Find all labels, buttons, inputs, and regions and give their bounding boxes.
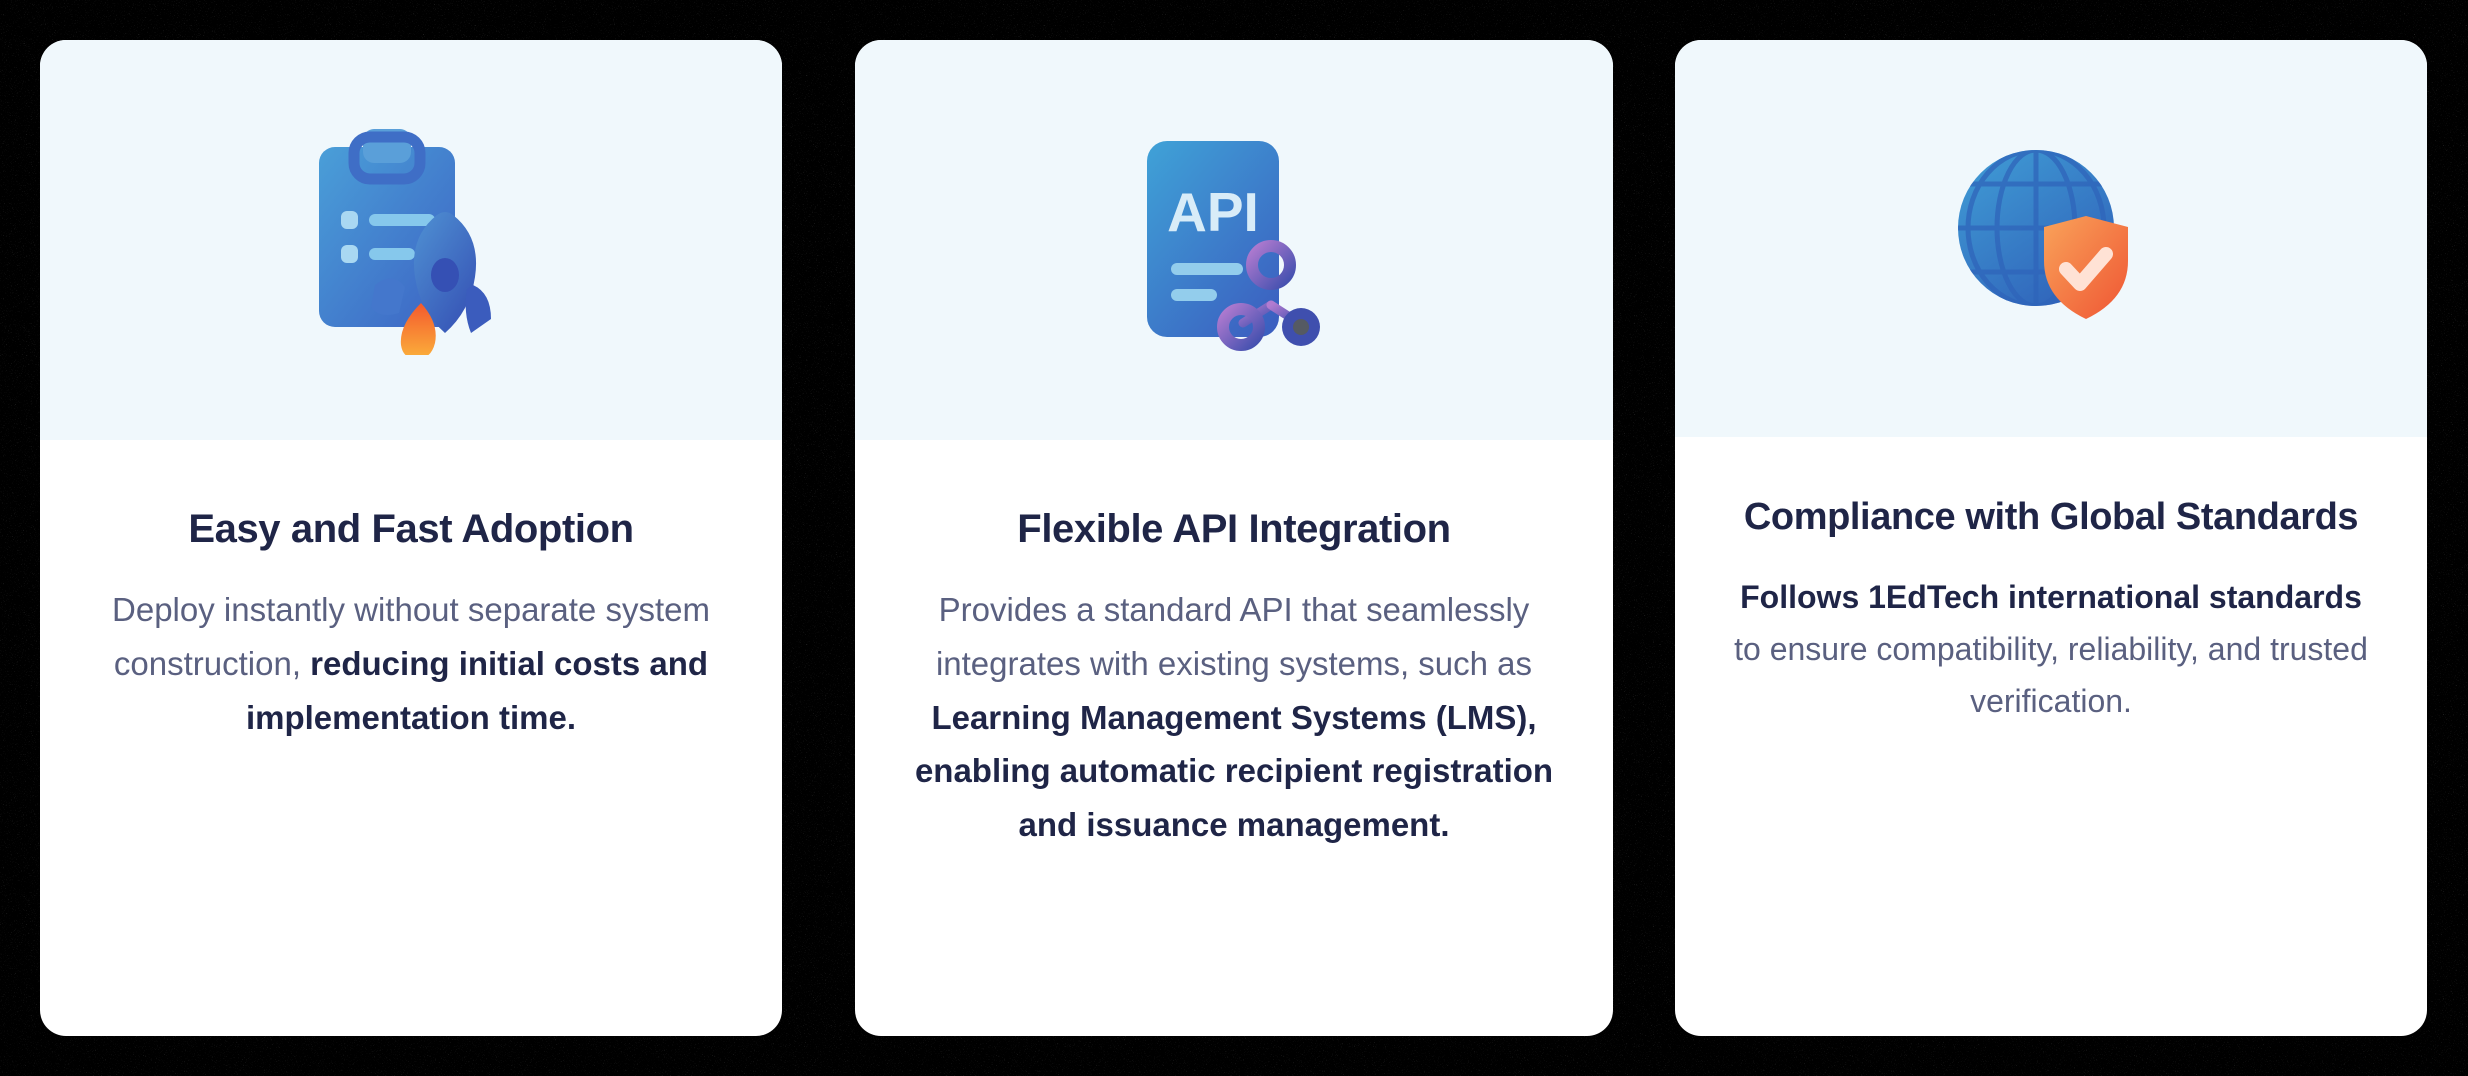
api-document-network-icon: API	[1119, 123, 1349, 358]
feature-card-flexible-api-integration[interactable]: API Flexible API Integration	[855, 40, 1613, 1036]
api-text: API	[1167, 181, 1259, 243]
desc-part-regular: to ensure compatibility, reliability, an…	[1734, 631, 2368, 719]
page-root: Easy and Fast Adoption Deploy instantly …	[0, 0, 2468, 1076]
feature-card-easy-and-fast-adoption[interactable]: Easy and Fast Adoption Deploy instantly …	[40, 40, 782, 1036]
desc-part-regular: Provides a standard API that seamlessly …	[936, 591, 1532, 682]
desc-part-bold: Learning Management Systems (LMS), enabl…	[915, 699, 1553, 844]
icon-panel	[40, 40, 782, 440]
card-title: Flexible API Integration	[899, 505, 1569, 553]
card-description: Follows 1EdTech international standards …	[1719, 571, 2383, 727]
desc-part-bold: Follows 1EdTech international standards	[1740, 579, 2362, 615]
desc-part-bold: reducing initial costs and implementatio…	[246, 645, 708, 736]
card-description: Deploy instantly without separate system…	[84, 583, 738, 744]
card-title: Compliance with Global Standards	[1719, 495, 2383, 541]
card-body: Compliance with Global Standards Follows…	[1675, 437, 2427, 1036]
clipboard-rocket-icon	[301, 125, 521, 355]
feature-card-compliance-with-global-standards[interactable]: Compliance with Global Standards Follows…	[1675, 40, 2427, 1036]
icon-panel	[1675, 40, 2427, 437]
icon-panel: API	[855, 40, 1613, 440]
card-body: Flexible API Integration Provides a stan…	[855, 440, 1613, 1036]
card-title: Easy and Fast Adoption	[84, 505, 738, 553]
card-body: Easy and Fast Adoption Deploy instantly …	[40, 440, 782, 1036]
card-description: Provides a standard API that seamlessly …	[899, 583, 1569, 852]
globe-shield-check-icon	[1944, 136, 2159, 341]
